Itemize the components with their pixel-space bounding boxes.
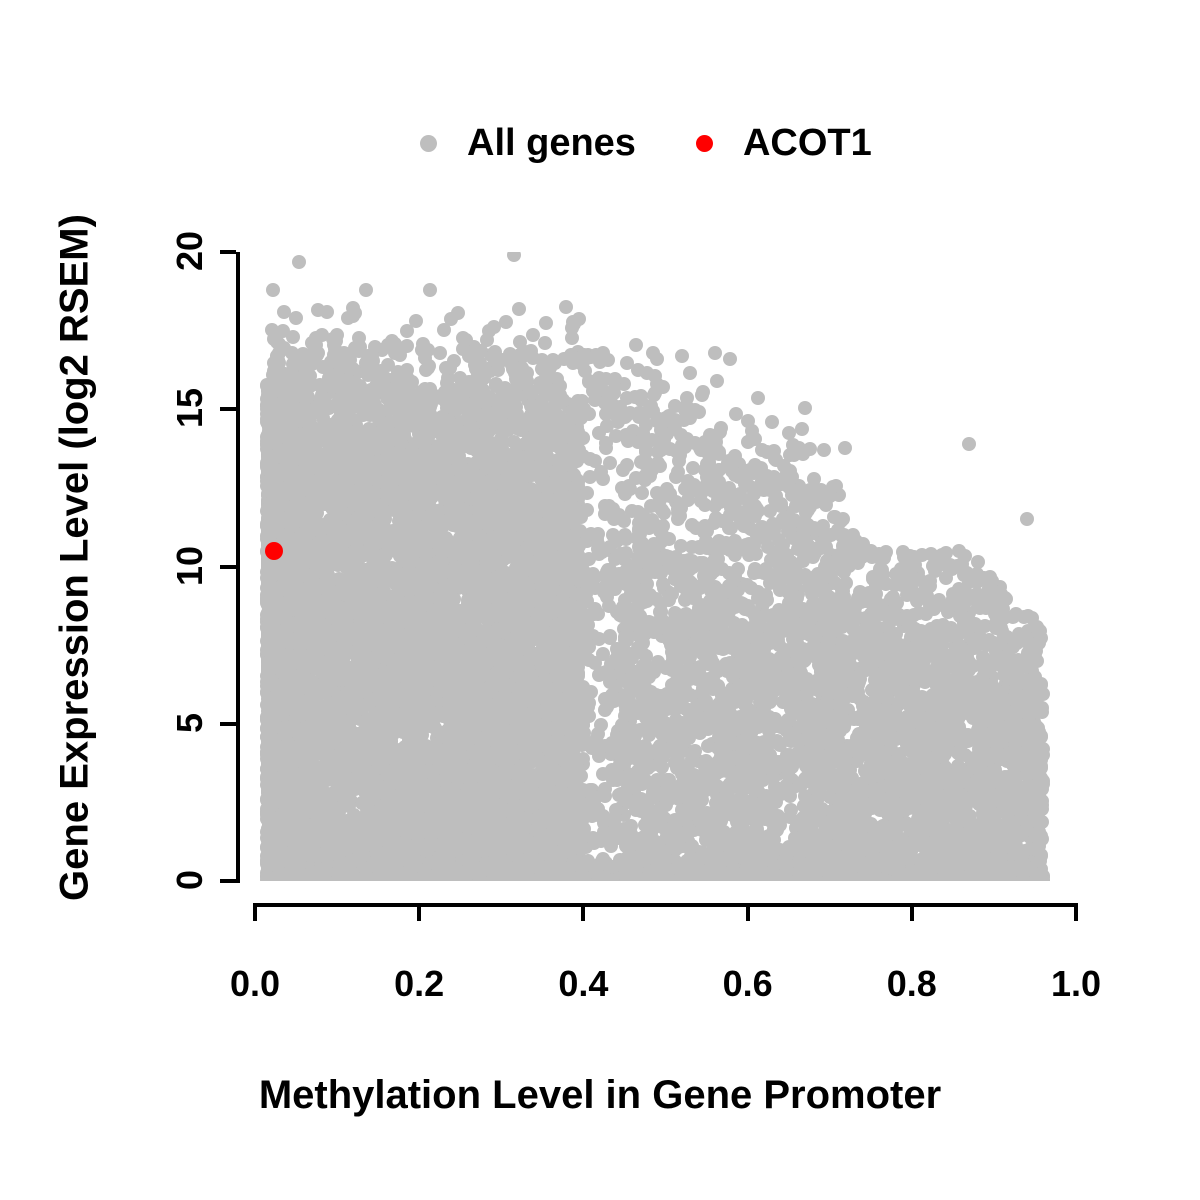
- x-axis-tick-label: 1.0: [1016, 963, 1136, 1005]
- y-axis-tick: [220, 407, 236, 411]
- y-axis-tick-label: 15: [169, 363, 211, 453]
- data-point: [261, 710, 275, 724]
- y-axis-line: [236, 252, 240, 883]
- x-axis-tick-label: 0.8: [852, 963, 972, 1005]
- y-axis-tick-label: 5: [169, 678, 211, 768]
- x-axis-tick-label: 0.6: [688, 963, 808, 1005]
- data-points-layer: [255, 252, 1076, 881]
- scatter-plot-figure: All genes ACOT1 05101520 0.00.20.40.60.8…: [0, 0, 1200, 1200]
- y-axis-tick: [220, 879, 236, 883]
- legend-label-acot1: ACOT1: [743, 122, 872, 165]
- x-axis-tick: [417, 903, 421, 921]
- legend: All genes ACOT1: [420, 108, 940, 178]
- x-axis-tick-label: 0.4: [523, 963, 643, 1005]
- x-axis-tick-label: 0.0: [195, 963, 315, 1005]
- y-axis-tick: [220, 250, 236, 254]
- data-point: [265, 637, 279, 651]
- x-axis-tick: [1074, 903, 1078, 921]
- y-axis-tick-label: 10: [169, 521, 211, 611]
- x-axis-tick-label: 0.2: [359, 963, 479, 1005]
- data-point: [262, 671, 276, 685]
- y-axis-tick-label: 20: [169, 206, 211, 296]
- y-axis-tick: [220, 565, 236, 569]
- y-axis-tick-label: 0: [169, 835, 211, 925]
- x-axis-tick: [581, 903, 585, 921]
- x-axis-tick: [746, 903, 750, 921]
- x-axis-tick: [910, 903, 914, 921]
- x-axis-line: [255, 903, 1078, 907]
- legend-entry-acot1: ACOT1: [696, 122, 872, 165]
- red-dot-icon: [696, 135, 713, 152]
- x-axis-tick: [253, 903, 257, 921]
- y-axis-tick: [220, 722, 236, 726]
- legend-label-all-genes: All genes: [467, 122, 636, 165]
- plot-region: [255, 252, 1076, 881]
- legend-entry-all-genes: All genes: [420, 122, 636, 165]
- gray-dot-icon: [420, 135, 437, 152]
